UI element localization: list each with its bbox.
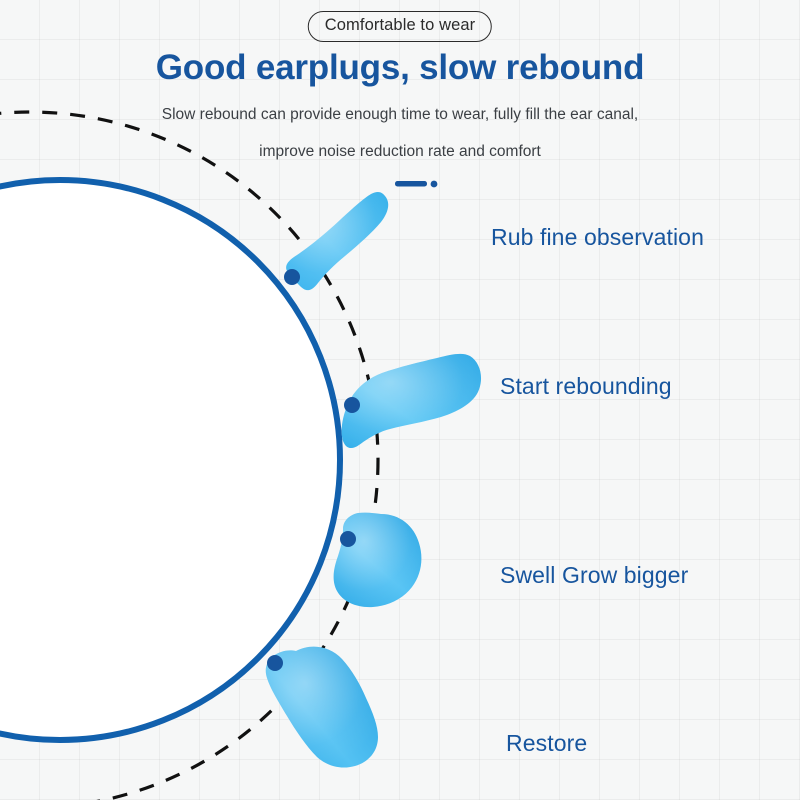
comfortable-badge: Comfortable to wear xyxy=(308,11,492,42)
stage-marker-dot-2 xyxy=(344,397,360,413)
stage-marker-dot-4 xyxy=(267,655,283,671)
stage-marker-dot-3 xyxy=(340,531,356,547)
earplug-stage-3-swollen xyxy=(334,513,422,608)
stage-label-rub-fine-observation: Rub fine observation xyxy=(491,224,704,251)
dash-dot-accent-icon xyxy=(395,181,437,188)
earplug-stage-2-rebounding xyxy=(342,354,481,448)
stage-label-start-rebounding: Start rebounding xyxy=(500,373,672,400)
earplug-stage-1-compressed xyxy=(286,192,388,290)
stage-marker-dot-1 xyxy=(284,269,300,285)
subtitle-line-2: improve noise reduction rate and comfort xyxy=(0,143,800,161)
stage-label-swell-grow-bigger: Swell Grow bigger xyxy=(500,562,688,589)
product-infographic-page: Comfortable to wear Good earplugs, slow … xyxy=(0,0,800,800)
stage-label-restore: Restore xyxy=(506,730,587,757)
page-title: Good earplugs, slow rebound xyxy=(0,48,800,88)
subtitle-line-1: Slow rebound can provide enough time to … xyxy=(0,106,800,124)
